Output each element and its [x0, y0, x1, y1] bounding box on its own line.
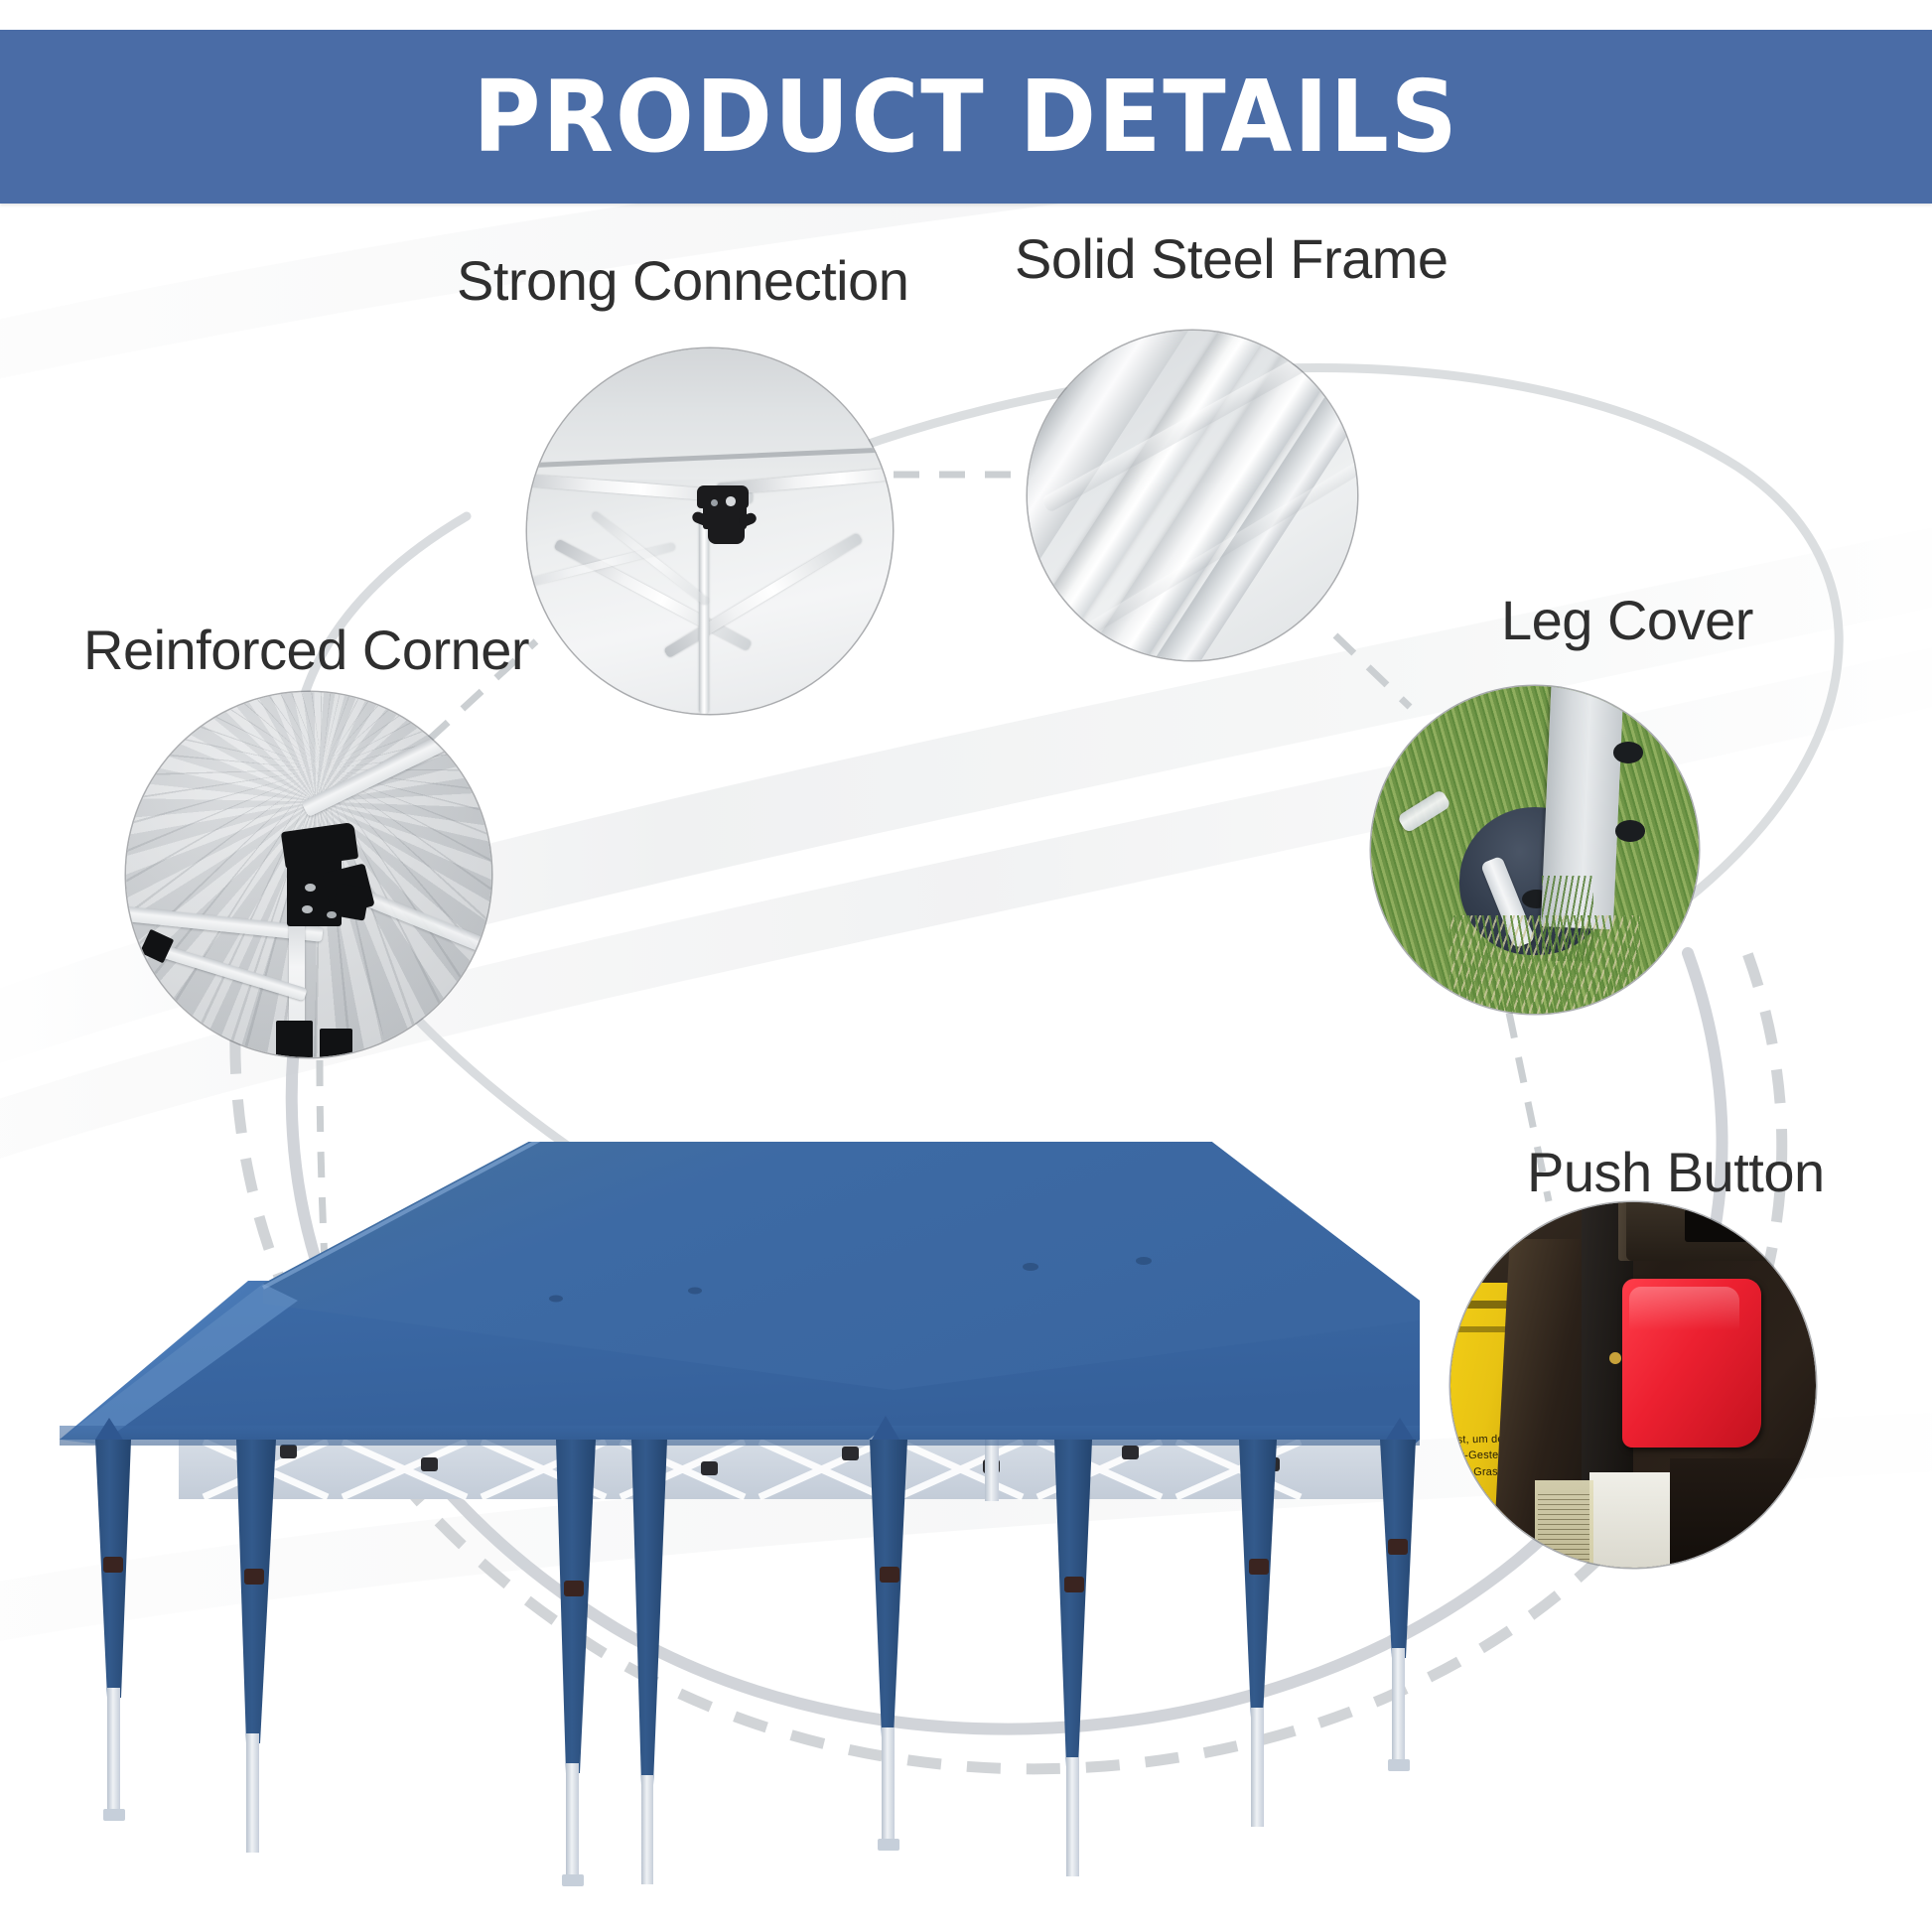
gazebo-roof-left-face	[60, 1281, 556, 1440]
leg-cover-on-grass-photo	[1371, 686, 1699, 1014]
gazebo-legs	[95, 1440, 1416, 1886]
callout-solid-steel-frame	[1028, 331, 1357, 660]
callout-strong-connection	[527, 348, 893, 714]
gazebo-valance	[60, 1426, 1420, 1446]
product-details-infographic: PRODUCT DETAILS Strong Connection Solid …	[0, 0, 1932, 1932]
feature-label-reinforced-corner: Reinforced Corner	[83, 618, 529, 682]
steel-frame-poles-photo	[1028, 331, 1357, 660]
header-bar: PRODUCT DETAILS	[0, 30, 1932, 204]
red-push-button-photo: ist, um den elt-Gestell od, Gras der eil…	[1450, 1202, 1816, 1568]
feature-label-solid-steel-frame: Solid Steel Frame	[1015, 226, 1449, 291]
warning-label-line-2: elt-Gestell	[1452, 1449, 1504, 1464]
gazebo-canopy	[60, 1142, 1420, 1457]
gazebo-roof-left-highlight	[60, 1284, 298, 1445]
warning-label-line-5: eile	[1461, 1513, 1479, 1528]
leader-reinforced-to-product	[320, 1060, 328, 1330]
gazebo-roof-sheen	[263, 1142, 1420, 1390]
gazebo-under-canopy	[179, 1440, 1390, 1501]
gazebo-valance-peaks	[95, 1416, 1414, 1440]
callout-reinforced-corner	[126, 692, 491, 1057]
warning-label-line-4: der	[1459, 1494, 1476, 1509]
callout-leg-cover	[1371, 686, 1699, 1014]
warning-label-line-3: od, Gras	[1454, 1465, 1498, 1481]
callout-push-button: ist, um den elt-Gestell od, Gras der eil…	[1450, 1202, 1816, 1568]
gazebo-roof-vents	[549, 1257, 1152, 1303]
reinforced-corner-bracket-photo	[126, 692, 491, 1057]
feature-label-leg-cover: Leg Cover	[1501, 588, 1753, 652]
tent-connector-hub-photo	[527, 348, 893, 714]
feature-label-strong-connection: Strong Connection	[457, 248, 908, 313]
page-title: PRODUCT DETAILS	[68, 30, 1864, 204]
feature-label-push-button: Push Button	[1527, 1140, 1825, 1204]
